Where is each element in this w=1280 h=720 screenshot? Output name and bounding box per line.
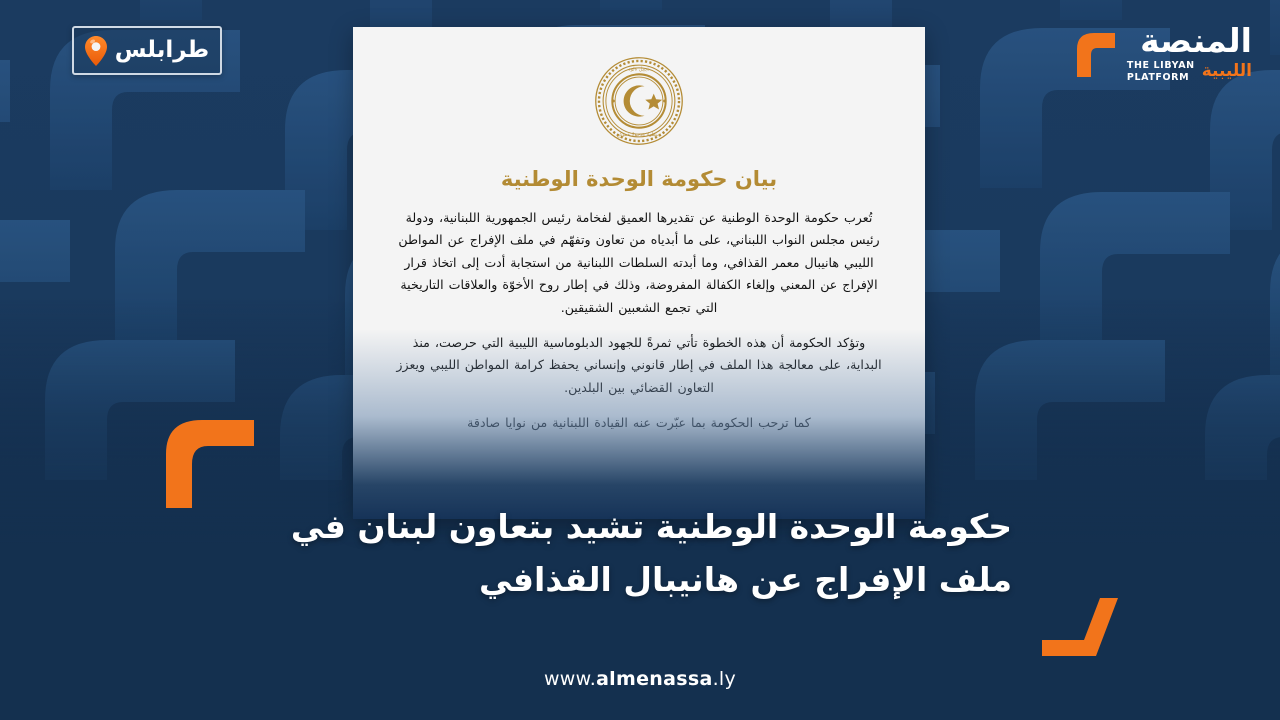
url-brand: almenassa — [596, 668, 713, 690]
logo-english-line1: THE LIBYAN — [1127, 60, 1195, 72]
logo-english-group: THE LIBYAN PLATFORM — [1127, 60, 1195, 84]
svg-text:ةينطولا ةدحولا ةموكح: ةينطولا ةدحولا ةموكح — [617, 132, 662, 138]
location-badge: طرابلس — [72, 26, 222, 75]
brand-hook-decoration-right — [1038, 598, 1122, 660]
statement-body: تُعرب حكومة الوحدة الوطنية عن تقديرها ال… — [393, 207, 885, 435]
map-pin-icon — [85, 36, 107, 66]
statement-paragraph: كما ترحب الحكومة بما عبّرت عنه القيادة ا… — [393, 412, 885, 434]
logo-arabic-sub: الليبية — [1202, 63, 1252, 80]
statement-title: بيان حكومة الوحدة الوطنية — [393, 167, 885, 191]
url-prefix: www. — [544, 668, 596, 690]
logo-arabic-main: المنصة — [1140, 24, 1252, 57]
site-logo[interactable]: المنصة الليبية THE LIBYAN PLATFORM — [1073, 24, 1252, 84]
logo-english-line2: PLATFORM — [1127, 72, 1195, 84]
brand-hook-decoration-left — [162, 416, 258, 508]
brand-hook-icon — [1073, 31, 1119, 77]
headline: حكومة الوحدة الوطنية تشيد بتعاون لبنان ف… — [262, 500, 1012, 607]
libya-government-emblem-icon: ةيبيل ةلود ةينطولا ةدحولا ةموكح — [593, 55, 685, 147]
statement-card-inner: ةيبيل ةلود ةينطولا ةدحولا ةموكح بيان حكو… — [353, 27, 925, 435]
footer-website-url[interactable]: www.almenassa.ly — [0, 668, 1280, 690]
location-badge-label: طرابلس — [115, 39, 209, 62]
logo-secondary-row: الليبية THE LIBYAN PLATFORM — [1127, 60, 1252, 84]
statement-paragraph: تُعرب حكومة الوحدة الوطنية عن تقديرها ال… — [393, 207, 885, 319]
url-suffix: .ly — [713, 668, 736, 690]
statement-card: ةيبيل ةلود ةينطولا ةدحولا ةموكح بيان حكو… — [353, 27, 925, 519]
poster-canvas: طرابلس المنصة الليبية THE LIBYAN PLATFOR… — [0, 0, 1280, 720]
svg-text:ةيبيل ةلود: ةيبيل ةلود — [628, 67, 650, 73]
logo-text-group: المنصة الليبية THE LIBYAN PLATFORM — [1127, 24, 1252, 84]
statement-paragraph: وتؤكد الحكومة أن هذه الخطوة تأتي ثمرةً ل… — [393, 332, 885, 399]
